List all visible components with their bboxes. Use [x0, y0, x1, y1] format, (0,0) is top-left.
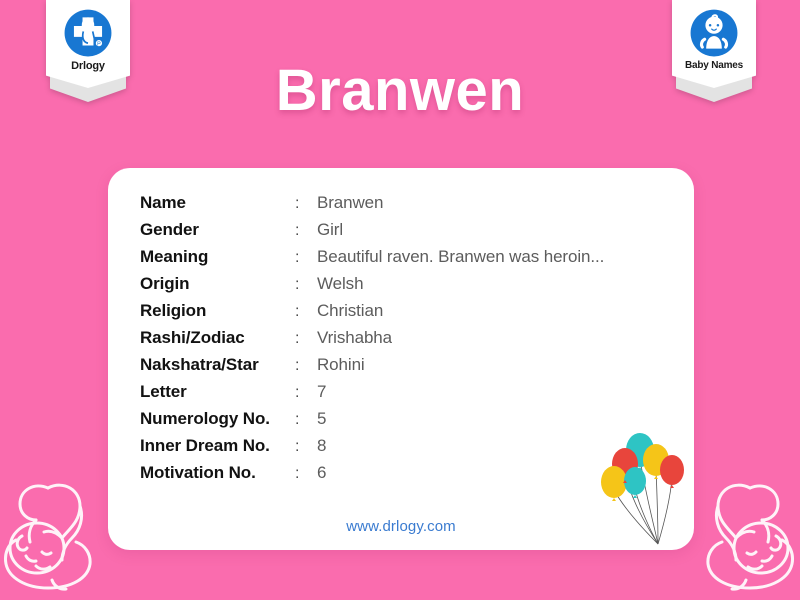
row-label: Numerology No.	[140, 409, 295, 429]
row-label: Religion	[140, 301, 295, 321]
row-colon: :	[295, 384, 317, 402]
row-value: Rohini	[317, 355, 365, 375]
row-colon: :	[295, 465, 317, 483]
baby-icon	[689, 8, 739, 58]
row-colon: :	[295, 411, 317, 429]
name-details-card: Name : Branwen Gender : Girl Meaning : B…	[108, 168, 694, 550]
balloons-illustration	[600, 432, 692, 550]
row-colon: :	[295, 438, 317, 456]
table-row: Nakshatra/Star : Rohini	[140, 355, 670, 382]
table-row: Religion : Christian	[140, 301, 670, 328]
row-colon: :	[295, 330, 317, 348]
row-value: 5	[317, 409, 326, 429]
row-label: Nakshatra/Star	[140, 355, 295, 375]
table-row: Motivation No. : 6	[140, 463, 670, 490]
row-value: Vrishabha	[317, 328, 392, 348]
page-title: Branwen	[0, 62, 800, 120]
row-label: Motivation No.	[140, 463, 295, 483]
row-colon: :	[295, 276, 317, 294]
row-label: Inner Dream No.	[140, 436, 295, 456]
row-label: Rashi/Zodiac	[140, 328, 295, 348]
poster-root: P Drlogy Baby Names Branwen	[0, 0, 800, 600]
row-value: Welsh	[317, 274, 363, 294]
row-value: Christian	[317, 301, 383, 321]
row-colon: :	[295, 357, 317, 375]
details-table: Name : Branwen Gender : Girl Meaning : B…	[140, 193, 670, 490]
table-row: Numerology No. : 5	[140, 409, 670, 436]
row-value: 7	[317, 382, 326, 402]
doctor-stethoscope-cross-icon: P	[63, 8, 113, 58]
table-row: Meaning : Beautiful raven. Branwen was h…	[140, 247, 670, 274]
row-value: 8	[317, 436, 326, 456]
row-colon: :	[295, 195, 317, 213]
row-colon: :	[295, 303, 317, 321]
table-row: Gender : Girl	[140, 220, 670, 247]
row-label: Letter	[140, 382, 295, 402]
row-value: Girl	[317, 220, 343, 240]
row-label: Name	[140, 193, 295, 213]
mother-and-baby-illustration-right	[686, 460, 800, 600]
row-value: Branwen	[317, 193, 383, 213]
table-row: Rashi/Zodiac : Vrishabha	[140, 328, 670, 355]
svg-text:P: P	[97, 41, 101, 47]
row-label: Gender	[140, 220, 295, 240]
row-colon: :	[295, 222, 317, 240]
mother-and-baby-illustration-left	[0, 460, 112, 600]
row-label: Origin	[140, 274, 295, 294]
row-label: Meaning	[140, 247, 295, 267]
table-row: Name : Branwen	[140, 193, 670, 220]
table-row: Letter : 7	[140, 382, 670, 409]
table-row: Inner Dream No. : 8	[140, 436, 670, 463]
row-colon: :	[295, 249, 317, 267]
row-value: Beautiful raven. Branwen was heroin...	[317, 247, 604, 267]
table-row: Origin : Welsh	[140, 274, 670, 301]
row-value: 6	[317, 463, 326, 483]
